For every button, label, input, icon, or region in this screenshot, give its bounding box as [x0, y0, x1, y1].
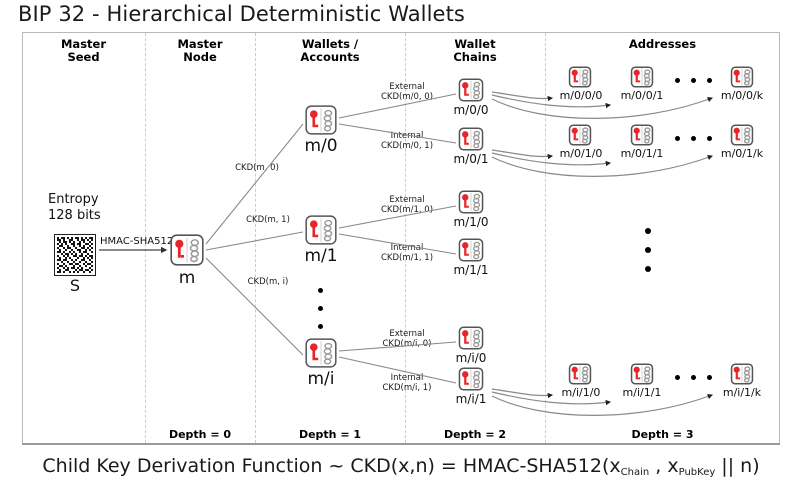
entropy-label: Entropy 128 bits	[48, 192, 101, 224]
wallet-icon-m-i-1-k	[730, 363, 754, 385]
column-header-wallet-chains: Wallet Chains	[405, 38, 545, 64]
wallet-icon-m-1	[305, 215, 337, 245]
node-label-m-1: m/1	[303, 246, 339, 266]
hmac-sha512-label: HMAC-SHA512	[100, 236, 173, 247]
node-label-m-1-1: m/1/1	[446, 263, 496, 277]
node-label-m-i-1: m/i/1	[446, 392, 496, 406]
seed-symbol-label: S	[54, 276, 96, 295]
node-label-m-0-0-k: m/0/0/k	[713, 89, 771, 102]
wallet-icon-m-0-1-k	[730, 124, 754, 146]
branch-label-internal-m-0: Internal CKD(m/0, 1)	[368, 131, 446, 151]
wallet-icon-m-i-0	[458, 326, 484, 350]
wallet-icon-m	[170, 234, 204, 266]
depth-label-0: Depth = 0	[145, 428, 255, 441]
wallet-icon-m-0-1-0	[568, 124, 592, 146]
node-label-m-i-1-1: m/i/1/1	[613, 386, 671, 399]
column-header-addresses: Addresses	[545, 38, 780, 51]
wallet-icon-m-0-0-k	[730, 66, 754, 88]
branch-label-ckd-m-1: CKD(m, 1)	[233, 215, 303, 225]
node-label-m-i-1-0: m/i/1/0	[552, 386, 610, 399]
wallet-icon-m-0-0-0	[568, 66, 592, 88]
column-header-master-seed: Master Seed	[22, 38, 145, 64]
branch-label-external-m-0: External CKD(m/0, 0)	[368, 82, 446, 102]
wallet-icon-m-i-1	[458, 367, 484, 391]
address-ellipsis-row-1	[675, 78, 712, 83]
wallet-icon-m-i	[305, 338, 337, 368]
diagram-root: BIP 32 - Hierarchical Deterministic Wall…	[0, 0, 800, 493]
branch-label-external-m-1: External CKD(m/1, 0)	[368, 195, 446, 215]
formula-line: Child Key Derivation Function ~ CKD(x,n)…	[22, 455, 780, 477]
address-vertical-ellipsis	[645, 228, 651, 272]
page-title: BIP 32 - Hierarchical Deterministic Wall…	[18, 2, 465, 26]
node-label-m-0-0: m/0/0	[446, 103, 496, 117]
node-label-m-i-0: m/i/0	[446, 351, 496, 365]
depth-label-1: Depth = 1	[255, 428, 405, 441]
wallet-icon-m-i-1-0	[568, 363, 592, 385]
wallet-icon-m-0-1-1	[630, 124, 654, 146]
column-header-wallets: Wallets / Accounts	[255, 38, 405, 64]
depth-label-3: Depth = 3	[545, 428, 780, 441]
column-header-master-node: Master Node	[145, 38, 255, 64]
node-label-m-i: m/i	[303, 369, 339, 389]
node-label-m-0-1: m/0/1	[446, 152, 496, 166]
branch-label-ckd-m-0: CKD(m, 0)	[222, 163, 292, 173]
branch-label-external-m-i: External CKD(m/i, 0)	[368, 329, 446, 349]
wallet-icon-m-0-1	[458, 127, 484, 151]
formula-prefix: Child Key Derivation Function ~ CKD(x,n)…	[42, 455, 620, 477]
depth-label-2: Depth = 2	[405, 428, 545, 441]
node-label-m-1-0: m/1/0	[446, 215, 496, 229]
wallet-icon-m-0	[305, 105, 337, 135]
node-label-m: m	[170, 268, 204, 288]
formula-sub-chain: Chain	[621, 467, 650, 478]
qr-code-seed-icon	[54, 234, 96, 276]
wallet-vertical-ellipsis	[318, 288, 323, 329]
wallet-icon-m-1-1	[458, 238, 484, 262]
branch-label-internal-m-i: Internal CKD(m/i, 1)	[368, 373, 446, 393]
formula-sub-pubkey: PubKey	[679, 467, 716, 478]
bottom-rule	[22, 443, 780, 445]
node-label-m-0-1-0: m/0/1/0	[552, 147, 610, 160]
branch-label-internal-m-1: Internal CKD(m/1, 1)	[368, 243, 446, 263]
wallet-icon-m-0-0	[458, 78, 484, 102]
formula-suffix: || n)	[715, 455, 759, 477]
address-ellipsis-row-2	[675, 136, 712, 141]
formula-mid: , x	[649, 455, 678, 477]
column-divider-4	[545, 33, 546, 443]
node-label-m-0: m/0	[303, 136, 339, 156]
column-divider-2	[255, 33, 256, 443]
node-label-m-0-1-1: m/0/1/1	[613, 147, 671, 160]
address-ellipsis-row-3	[675, 375, 712, 380]
branch-label-ckd-m-i: CKD(m, i)	[233, 277, 303, 287]
node-label-m-0-0-0: m/0/0/0	[552, 89, 610, 102]
wallet-icon-m-0-0-1	[630, 66, 654, 88]
node-label-m-0-0-1: m/0/0/1	[613, 89, 671, 102]
node-label-m-0-1-k: m/0/1/k	[713, 147, 771, 160]
wallet-icon-m-1-0	[458, 190, 484, 214]
node-label-m-i-1-k: m/i/1/k	[713, 386, 771, 399]
wallet-icon-m-i-1-1	[630, 363, 654, 385]
